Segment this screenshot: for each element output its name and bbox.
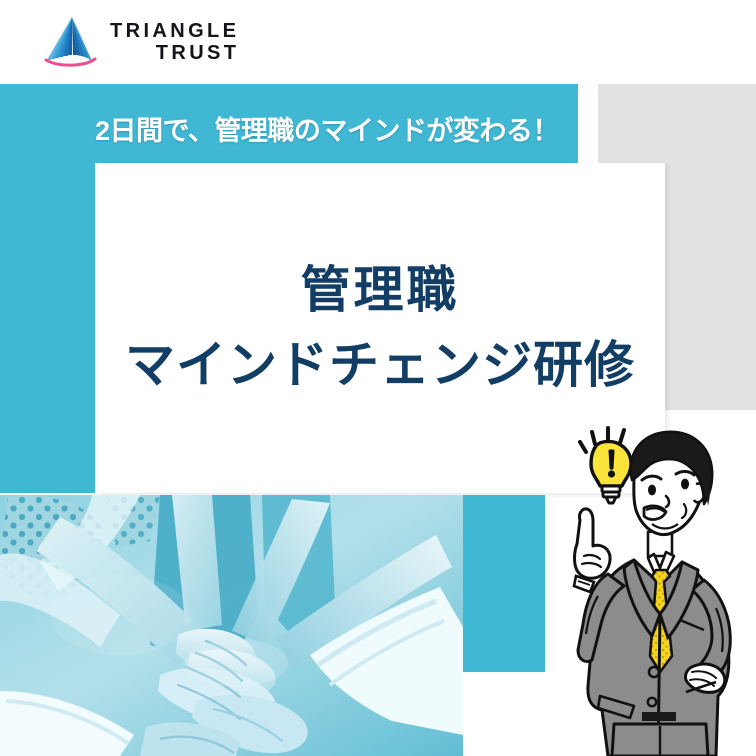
logo-line-trust: TRUST: [156, 43, 240, 65]
teamwork-hands-photo: [0, 495, 463, 756]
businessman-illustration: [556, 424, 756, 756]
logo-line-triangle: TRIANGLE: [110, 21, 239, 43]
cyan-accent-block: [463, 495, 545, 672]
tagline-text: 2日間で、管理職のマインドが変わる！: [95, 100, 575, 156]
businessman-body: [574, 509, 730, 756]
idea-lightbulb-icon: [580, 428, 631, 503]
page-title-line-1: 管理職: [301, 263, 460, 318]
page-title-line-2: マインドチェンジ研修: [125, 338, 635, 393]
brand-logo-wordmark: TRIANGLE TRUST: [110, 21, 239, 64]
triangle-fan-logo-icon: [42, 15, 100, 71]
brand-logo[interactable]: TRIANGLE TRUST: [42, 10, 302, 76]
businessman-head: [631, 432, 713, 535]
poster-canvas: TRIANGLE TRUST 2日間で、管理職のマインドが変わる！ 管理職 マイ…: [0, 0, 756, 756]
